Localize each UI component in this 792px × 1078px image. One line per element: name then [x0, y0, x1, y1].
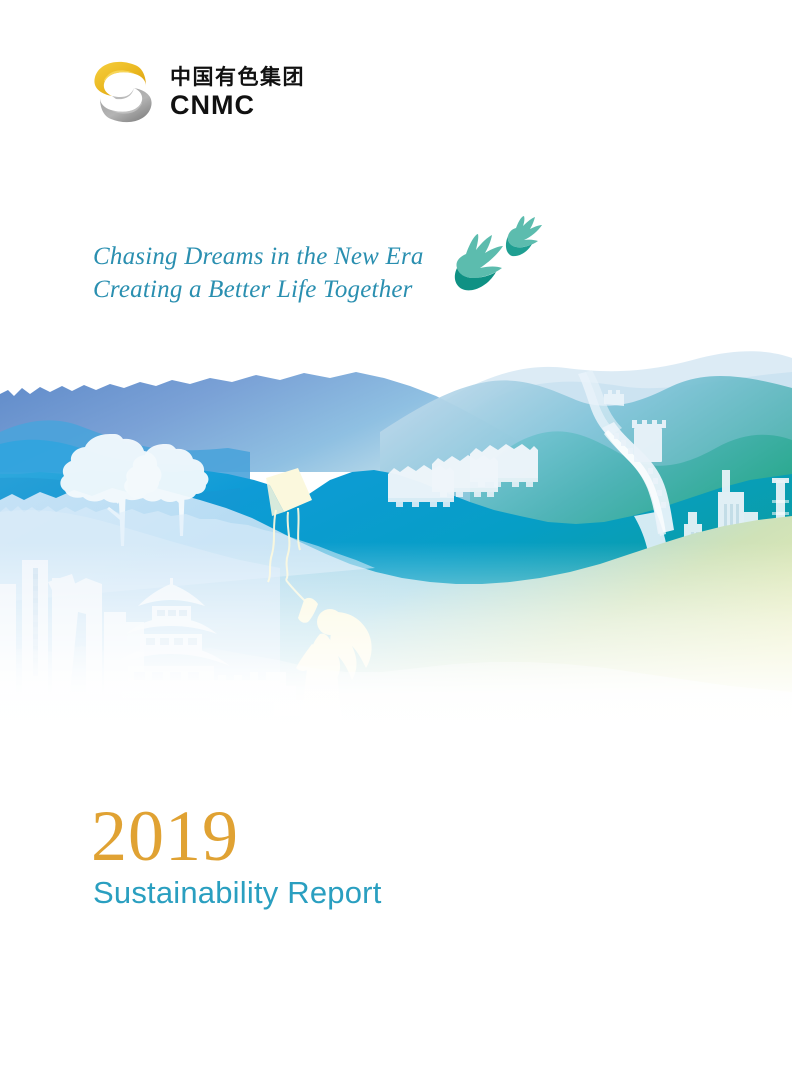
brand-logo-block: 中国有色集团 CNMC	[88, 56, 305, 128]
brand-name-cn: 中国有色集团	[170, 66, 305, 90]
cover-illustration	[0, 182, 792, 752]
cnmc-swirl-logo-icon	[88, 56, 158, 128]
ore-cart-left	[388, 465, 454, 507]
brand-wordmark: 中国有色集团 CNMC	[170, 64, 305, 121]
report-subtitle: Sustainability Report	[93, 876, 382, 910]
brand-name-en: CNMC	[170, 90, 305, 120]
report-cover-page: 中国有色集团 CNMC Chasing Dreams in the New Er…	[0, 0, 792, 1078]
report-year: 2019	[91, 800, 239, 872]
